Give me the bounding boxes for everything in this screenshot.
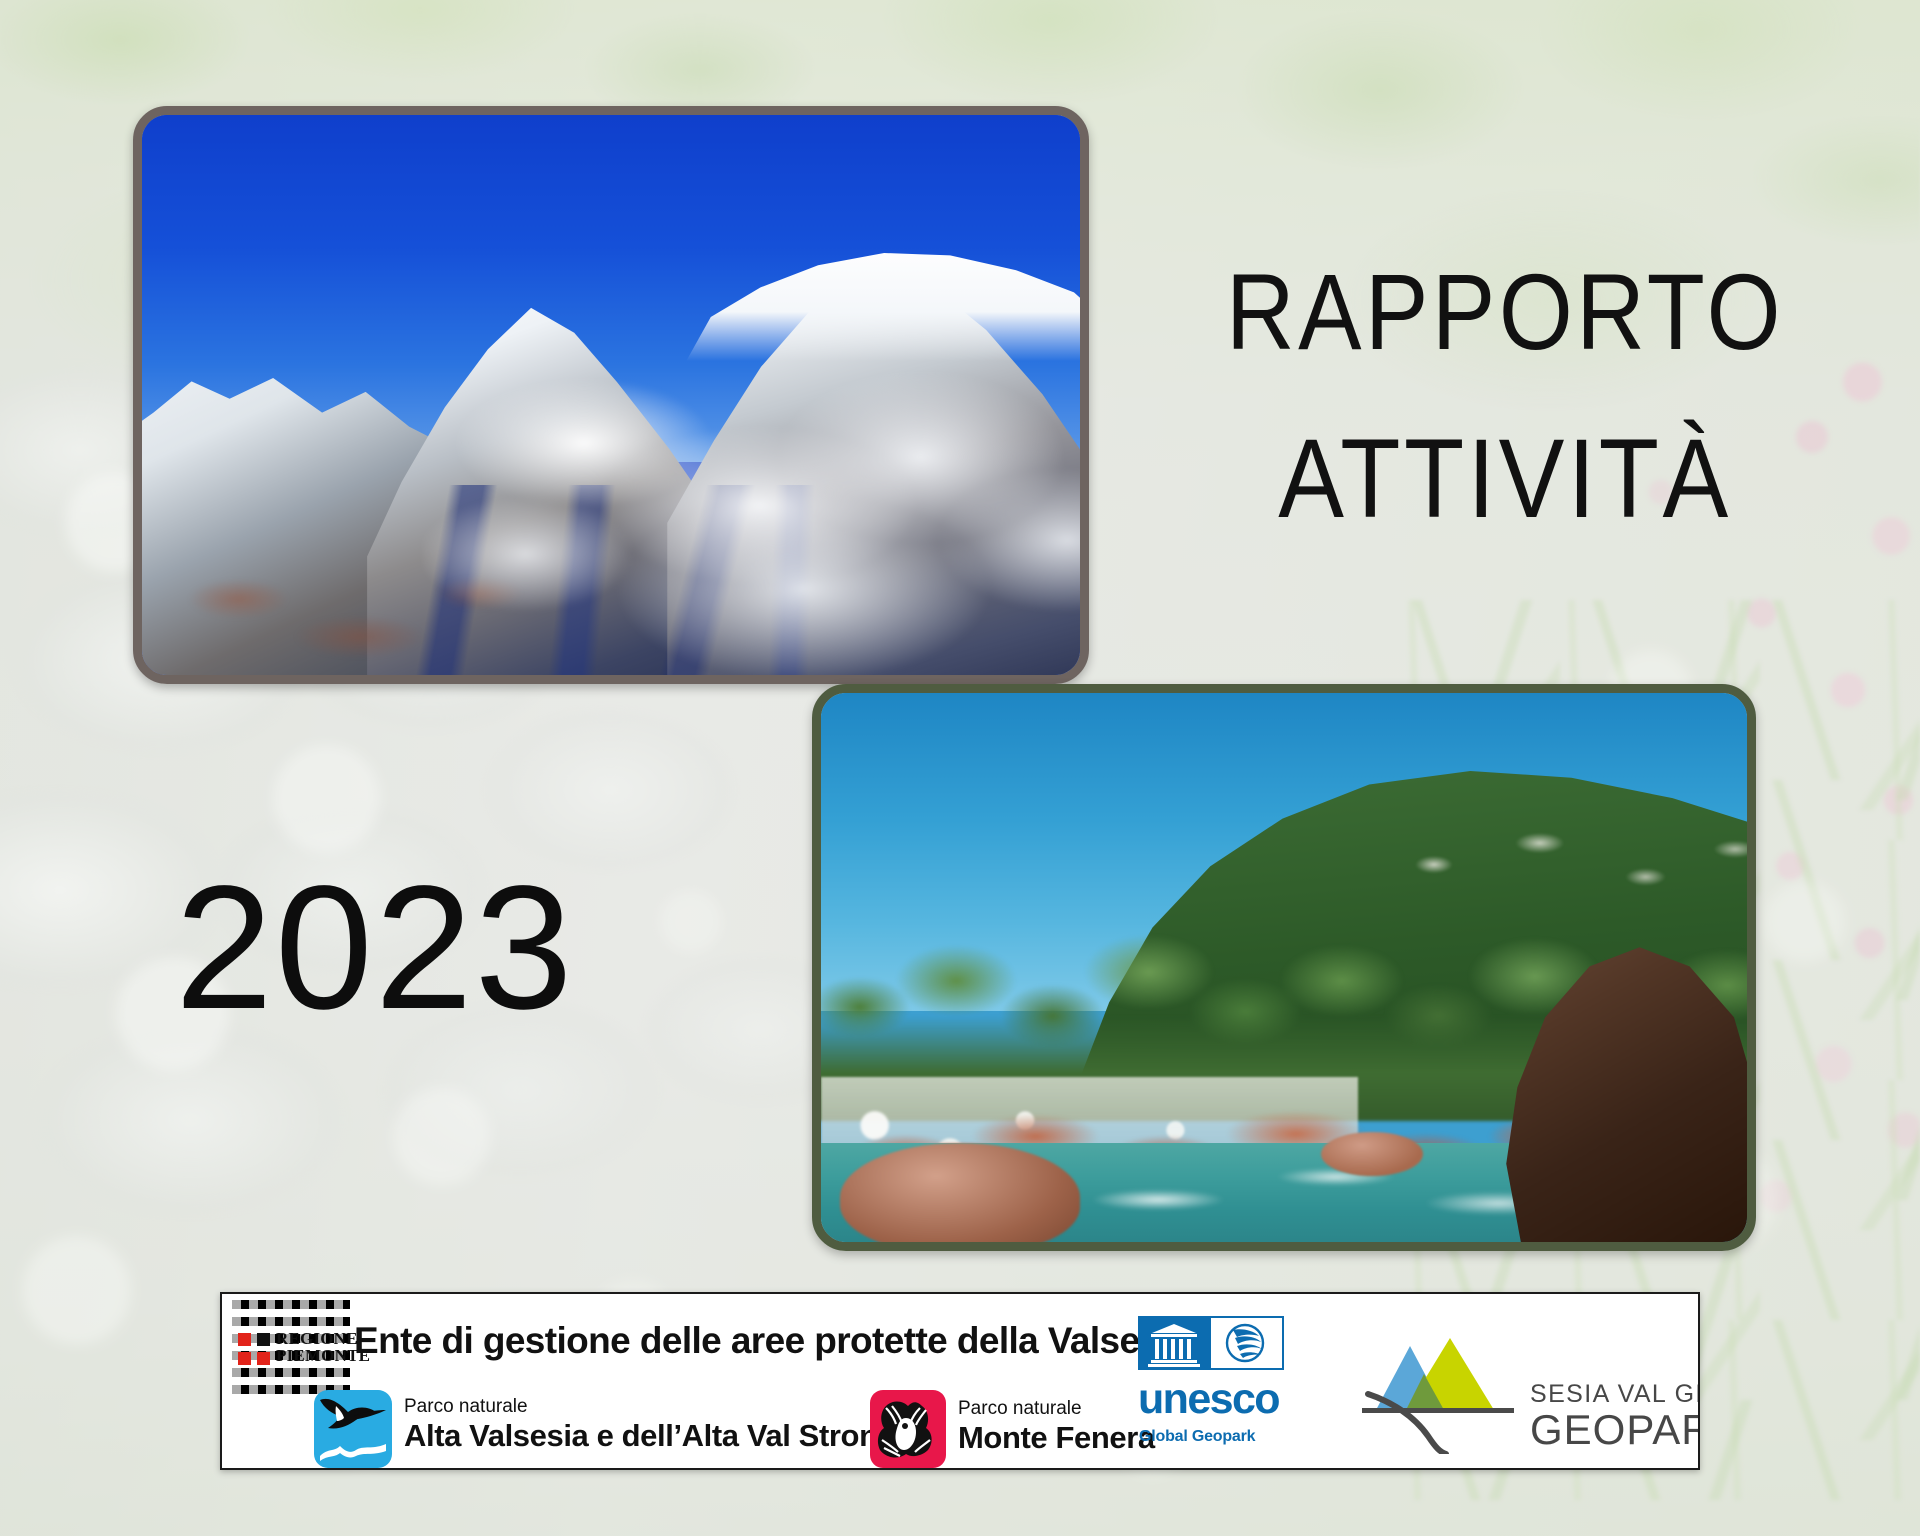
unesco-logo: unesco Global Geopark bbox=[1138, 1316, 1348, 1466]
geopark-line-2: GEOPARK bbox=[1530, 1406, 1700, 1454]
flying-bird-icon bbox=[316, 1394, 390, 1438]
owl-icon bbox=[872, 1394, 944, 1464]
mountain-photo bbox=[133, 106, 1089, 684]
alta-valsesia-kicker: Parco naturale bbox=[404, 1396, 528, 1418]
mountain-clouds bbox=[423, 339, 1080, 675]
river-mid-rock bbox=[1321, 1132, 1423, 1176]
globe-icon bbox=[1211, 1318, 1280, 1368]
ente-title: Ente di gestione delle aree protette del… bbox=[354, 1320, 1189, 1362]
alta-valsesia-badge-icon bbox=[314, 1390, 392, 1468]
monte-fenera-kicker: Parco naturale bbox=[958, 1398, 1082, 1420]
river-foreground-rock bbox=[840, 1143, 1081, 1242]
logo-bar: REGIONE PIEMONTE Ente di gestione delle … bbox=[220, 1292, 1700, 1470]
river-photo bbox=[812, 684, 1756, 1251]
report-year: 2023 bbox=[175, 860, 575, 1036]
unesco-temple-box bbox=[1138, 1316, 1211, 1370]
greek-temple-icon bbox=[1138, 1316, 1211, 1370]
wave-mountain-icon bbox=[318, 1440, 388, 1462]
unesco-globe-box bbox=[1211, 1316, 1284, 1370]
geopark-line-1: SESIA VAL GRANDE bbox=[1530, 1380, 1700, 1409]
report-cover: RAPPORTO ATTIVITÀ 2023 REGIONE PIEMONTE … bbox=[0, 0, 1920, 1536]
regione-piemonte-cross-icon bbox=[238, 1333, 272, 1369]
river-photo-content bbox=[821, 693, 1747, 1242]
regione-piemonte-logo: REGIONE PIEMONTE bbox=[232, 1300, 350, 1400]
monte-fenera-badge-icon bbox=[870, 1390, 946, 1468]
unesco-wordmark: unesco bbox=[1138, 1378, 1279, 1421]
unesco-emblem bbox=[1138, 1316, 1284, 1370]
mountain-photo-content bbox=[142, 115, 1080, 675]
geopark-logo: SESIA VAL GRANDE GEOPARK bbox=[1362, 1318, 1700, 1468]
monte-fenera-name: Monte Fenera bbox=[958, 1420, 1155, 1456]
geopark-mountains-icon bbox=[1362, 1324, 1522, 1454]
alta-valsesia-name: Alta Valsesia e dell’Alta Val Strona bbox=[404, 1418, 894, 1454]
unesco-subtitle: Global Geopark bbox=[1139, 1428, 1255, 1446]
